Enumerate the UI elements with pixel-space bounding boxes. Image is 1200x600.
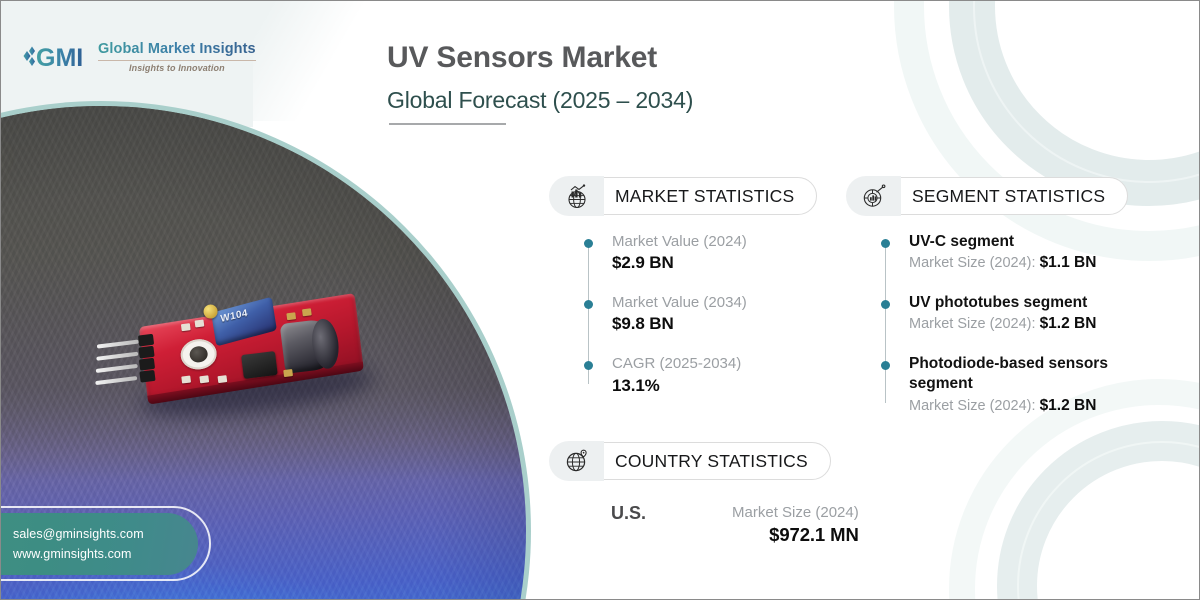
contact-website-row[interactable]: www.gminsights.com [13, 547, 198, 561]
title-underline [389, 123, 506, 125]
contact-email: sales@gminsights.com [13, 527, 144, 541]
infographic-canvas: W104 [0, 0, 1200, 600]
market-stat-label: Market Value (2024) [612, 232, 829, 252]
market-stat-value: $9.8 BN [612, 313, 829, 336]
segment-metric-label: Market Size (2024): [909, 255, 1036, 271]
segment-stat-item: UV-C segment Market Size (2024): $1.1 BN [880, 232, 1166, 275]
smd-component [181, 323, 191, 331]
country-statistics-title: COUNTRY STATISTICS [596, 442, 831, 480]
segment-name: UV-C segment [909, 232, 1166, 252]
pin-header-block [138, 346, 154, 359]
segment-statistics-header: SEGMENT STATISTICS [846, 176, 1166, 216]
smd-component [283, 369, 293, 377]
country-statistics-body: U.S. Market Size (2024) $972.1 MN [549, 503, 929, 548]
gmi-logo-mark: GMI [23, 42, 89, 72]
segment-metric-value: $1.1 BN [1040, 254, 1097, 271]
timeline-dot [881, 361, 890, 370]
smd-component [181, 376, 191, 384]
smd-component [199, 375, 209, 383]
market-stat-item: Market Value (2034) $9.8 BN [583, 293, 829, 336]
decorative-ring-top-right-thin [973, 0, 1200, 183]
svg-text:GMI: GMI [36, 44, 83, 72]
timeline-dot [584, 239, 593, 248]
market-statistics-header: MARKET STATISTICS [549, 176, 829, 216]
page-title: UV Sensors Market [387, 41, 657, 75]
market-stat-label: CAGR (2025-2034) [612, 354, 829, 374]
segment-stat-item: Photodiode-based sensors segment Market … [880, 354, 1166, 417]
panel-market-statistics: MARKET STATISTICS Market Value (2024) $2… [549, 176, 829, 398]
segment-metric: Market Size (2024): $1.2 BN [909, 395, 1166, 417]
country-name: U.S. [611, 503, 646, 524]
globe-bar-chart-icon [549, 176, 604, 216]
segment-statistics-title: SEGMENT STATISTICS [893, 177, 1128, 215]
brand-text: Global Market Insights Insights to Innov… [98, 41, 256, 73]
market-stat-value: $2.9 BN [612, 252, 829, 275]
contact-website: www.gminsights.com [13, 547, 132, 561]
contact-email-row[interactable]: sales@gminsights.com [13, 527, 198, 541]
segment-stat-item: UV phototubes segment Market Size (2024)… [880, 293, 1166, 336]
brand-name: Global Market Insights [98, 41, 256, 57]
market-stat-label: Market Value (2034) [612, 293, 829, 313]
segment-name: Photodiode-based sensors segment [909, 354, 1166, 395]
pie-chart-pointer-icon [846, 176, 901, 216]
market-stat-item: CAGR (2025-2034) 13.1% [583, 354, 829, 397]
panel-segment-statistics: SEGMENT STATISTICS UV-C segment Market S… [846, 176, 1166, 417]
smd-component [286, 312, 296, 320]
brand-logo[interactable]: GMI Global Market Insights Insights to I… [23, 41, 256, 73]
segment-name: UV phototubes segment [909, 293, 1166, 313]
segment-metric-label: Market Size (2024): [909, 398, 1036, 414]
timeline-dot [881, 239, 890, 248]
timeline-dot [881, 300, 890, 309]
ic-chip [241, 351, 278, 379]
market-statistics-list: Market Value (2024) $2.9 BN Market Value… [583, 232, 829, 398]
segment-metric: Market Size (2024): $1.1 BN [909, 252, 1166, 274]
brand-divider [98, 60, 256, 61]
smd-component [302, 308, 312, 316]
market-stat-value: 13.1% [612, 375, 829, 398]
smd-component [217, 375, 227, 383]
segment-metric-label: Market Size (2024): [909, 316, 1036, 332]
market-stat-item: Market Value (2024) $2.9 BN [583, 232, 829, 275]
panel-country-statistics: COUNTRY STATISTICS U.S. Market Size (202… [549, 441, 929, 548]
segment-metric-value: $1.2 BN [1040, 397, 1097, 414]
decorative-ring-bottom-right-thin [1017, 441, 1200, 600]
timeline-dot [584, 361, 593, 370]
page-subtitle: Global Forecast (2025 – 2034) [387, 87, 693, 114]
segment-statistics-list: UV-C segment Market Size (2024): $1.1 BN… [880, 232, 1166, 417]
country-stat-value: $972.1 MN [732, 523, 859, 548]
country-stat-label: Market Size (2024) [732, 503, 859, 523]
smd-component [195, 319, 205, 327]
segment-metric: Market Size (2024): $1.2 BN [909, 313, 1166, 335]
timeline-dot [584, 300, 593, 309]
market-statistics-title: MARKET STATISTICS [596, 177, 817, 215]
pin-header-block [139, 358, 155, 371]
globe-pin-icon [549, 441, 604, 481]
pin-header-block [139, 370, 155, 383]
pin-header-block [138, 334, 154, 347]
country-statistics-header: COUNTRY STATISTICS [549, 441, 929, 481]
brand-tagline: Insights to Innovation [98, 63, 256, 73]
country-stat: Market Size (2024) $972.1 MN [732, 503, 859, 548]
decorative-ring-bottom-right [997, 421, 1200, 600]
segment-metric-value: $1.2 BN [1040, 315, 1097, 332]
contact-block: sales@gminsights.com www.gminsights.com [0, 513, 198, 575]
